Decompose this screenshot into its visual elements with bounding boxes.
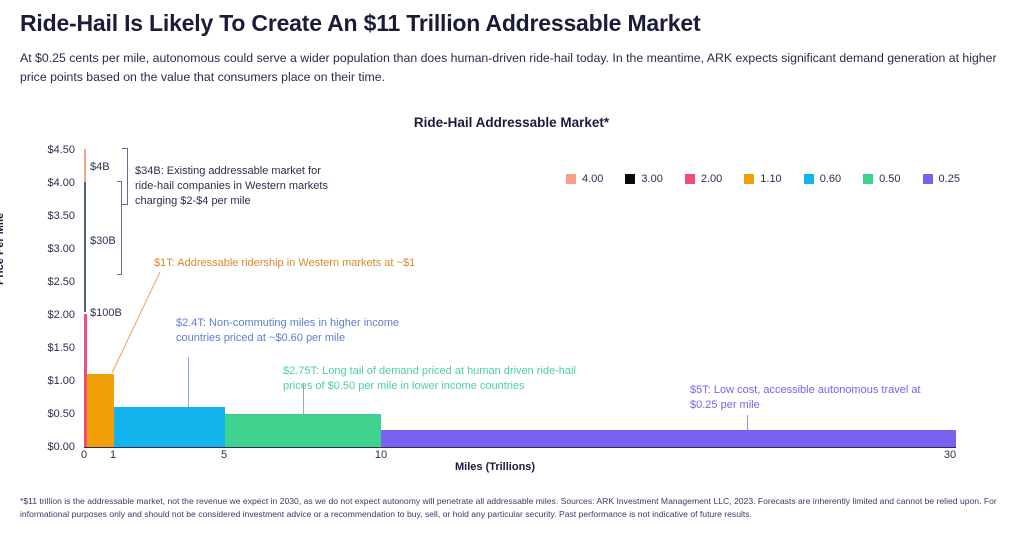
plot-area: Price Per Mile $4.50 $4.00 $3.50 $3.00 $… (0, 0, 1023, 539)
x-axis-line (84, 447, 956, 448)
bracket-30b (117, 181, 122, 275)
y-tick-label: $3.00 (15, 243, 75, 255)
y-tick-label: $4.00 (15, 177, 75, 189)
annotation-line: prices of $0.50 per mile in lower income… (283, 379, 623, 394)
y-tick-label: $0.50 (15, 408, 75, 420)
x-tick-label: 1 (110, 449, 116, 461)
x-tick-label: 10 (375, 449, 387, 461)
annotation-existing-market: $34B: Existing addressable market for ri… (135, 164, 385, 209)
annotation-non-commuting-miles: $2.4T: Non-commuting miles in higher inc… (176, 316, 476, 346)
annotation-line: $2.75T: Long tail of demand priced at hu… (283, 364, 623, 379)
y-tick-label: $3.50 (15, 210, 75, 222)
y-axis-title: Price Per Mile (0, 213, 6, 285)
annotation-line: charging $2-$4 per mile (135, 194, 385, 209)
annotation-line: $34B: Existing addressable market for (135, 164, 385, 179)
y-tick-label: $1.00 (15, 375, 75, 387)
x-tick-label: 5 (221, 449, 227, 461)
y-tick-label: $1.50 (15, 342, 75, 354)
annotation-line: $0.25 per mile (690, 398, 990, 413)
x-tick-label: 30 (944, 449, 956, 461)
bar-series-3-00[interactable] (84, 182, 86, 312)
bar-series-0-60[interactable] (114, 407, 225, 447)
y-tick-label: $2.00 (15, 309, 75, 321)
annotation-long-tail-demand: $2.75T: Long tail of demand priced at hu… (283, 364, 623, 394)
annotation-line: countries priced at ~$0.60 per mile (176, 331, 476, 346)
leader-line-5t (747, 415, 748, 430)
annotation-line: $1T: Addressable ridership in Western ma… (154, 256, 484, 271)
y-tick-label: $0.00 (15, 441, 75, 453)
value-label-30b: $30B (90, 234, 116, 249)
bar-series-1-10[interactable] (87, 374, 114, 447)
y-tick-label: $4.50 (15, 144, 75, 156)
x-tick-label: 0 (81, 449, 87, 461)
value-label-4b: $4B (90, 160, 110, 175)
bar-series-0-25[interactable] (381, 430, 956, 447)
bracket-34b (122, 148, 128, 205)
annotation-line: ride-hail companies in Western markets (135, 179, 385, 194)
x-axis-title: Miles (Trillions) (455, 461, 535, 473)
annotation-addressable-ridership: $1T: Addressable ridership in Western ma… (154, 256, 484, 271)
annotation-low-cost-autonomous: $5T: Low cost, accessible autonomous tra… (690, 383, 990, 413)
value-label-100b: $100B (90, 306, 122, 321)
chart-page: Ride-Hail Is Likely To Create An $11 Tri… (0, 0, 1023, 539)
leader-line-2-4t (188, 357, 189, 407)
chart-footnote: *$11 trillion is the addressable market,… (20, 495, 1005, 521)
y-tick-label: $2.50 (15, 276, 75, 288)
annotation-line: $2.4T: Non-commuting miles in higher inc… (176, 316, 476, 331)
bar-series-4-00[interactable] (84, 149, 86, 183)
annotation-line: $5T: Low cost, accessible autonomous tra… (690, 383, 990, 398)
bar-series-0-50[interactable] (225, 414, 381, 447)
